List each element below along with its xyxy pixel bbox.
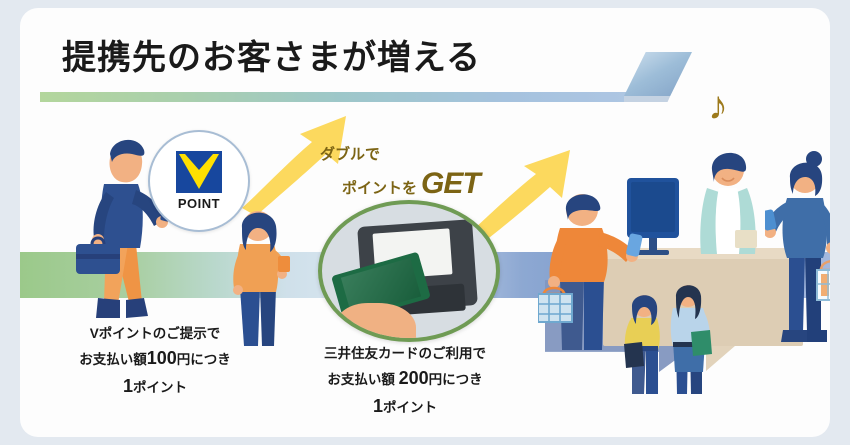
caption-center-line2-pre: お支払い額 — [327, 372, 398, 387]
get-emphasis: GET — [421, 165, 480, 203]
caption-center-points-number: 1 — [373, 396, 383, 416]
caption-center-points-unit: ポイント — [383, 400, 437, 415]
caption-left-points-number: 1 — [123, 376, 133, 396]
get-copy-line1: ダブルで — [320, 146, 520, 165]
caption-center-line3: 1ポイント — [270, 393, 540, 421]
title-accent-shape — [624, 52, 692, 102]
person-woman-blue-blouse — [660, 280, 716, 401]
person-store-clerk — [685, 144, 769, 265]
caption-left: Vポイントのご提示で お支払い額100円につき 1ポイント — [20, 324, 290, 401]
music-note-icon: ♪ — [708, 86, 728, 126]
caption-left-line3: 1ポイント — [20, 373, 290, 401]
caption-left-line2-post: 円につき — [177, 352, 231, 367]
page-title: 提携先のお客さまが増える — [62, 30, 481, 79]
get-copy-line2-text: ポイントを — [342, 180, 417, 199]
caption-left-amount: 100 — [147, 348, 177, 368]
infographic-stage: 提携先のお客さまが増える ♪ — [0, 0, 850, 445]
caption-center: 三井住友カードのご利用で お支払い額 200円につき 1ポイント — [270, 344, 540, 421]
caption-left-line2-pre: お支払い額 — [79, 352, 147, 367]
get-points-copy: ダブルで ポイントを GET — [320, 146, 520, 202]
payment-terminal-photo — [318, 200, 500, 342]
content-card: 提携先のお客さまが増える ♪ — [20, 8, 830, 437]
caption-center-line2: お支払い額 200円につき — [270, 365, 540, 393]
caption-center-line1: 三井住友カードのご利用で — [270, 344, 540, 365]
caption-center-amount: 200 — [399, 368, 429, 388]
get-copy-line2: ポイントを GET — [342, 165, 520, 203]
caption-left-line1: Vポイントのご提示で — [20, 324, 290, 345]
vpoint-label: POINT — [178, 196, 220, 211]
title-underline-rule — [40, 92, 638, 102]
caption-left-line2: お支払い額100円につき — [20, 345, 290, 373]
hand — [336, 303, 416, 342]
accent-parallelogram — [624, 52, 692, 102]
person-woman-shopper-with-basket — [765, 150, 830, 353]
caption-center-line2-post: 円につき — [429, 372, 483, 387]
vpoint-v-mark-icon — [176, 151, 222, 193]
caption-left-points-unit: ポイント — [133, 380, 187, 395]
